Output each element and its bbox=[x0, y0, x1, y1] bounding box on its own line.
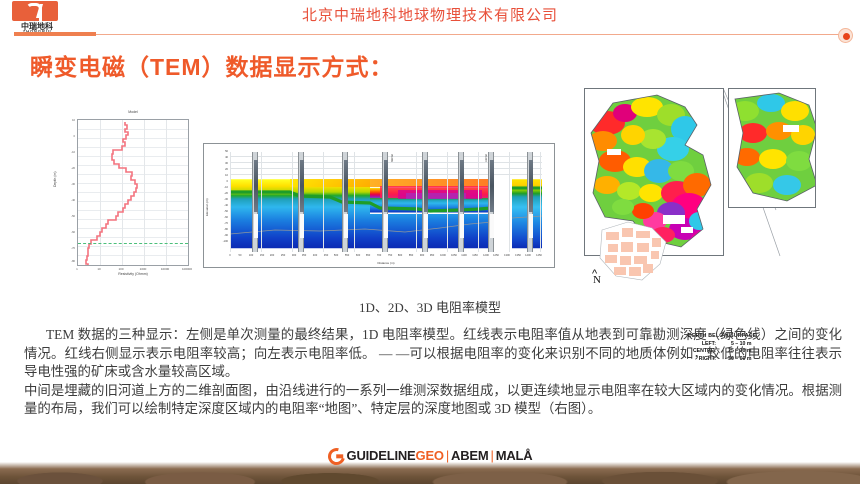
xtick: 1 bbox=[76, 267, 78, 271]
map-right-depth-slice bbox=[728, 88, 816, 208]
xtick: 100 bbox=[118, 267, 123, 271]
sounding-log bbox=[382, 152, 388, 252]
xtick: 750 bbox=[388, 254, 392, 257]
body-paragraph-1: TEM 数据的三种显示：左侧是单次测量的最终结果，1D 电阻率模型。红线表示电阻… bbox=[24, 326, 842, 382]
xtick: 650 bbox=[366, 254, 370, 257]
slide-header: 中瑞地科 ZHONGRUI 北京中瑞地科地球物理技术有限公司 bbox=[0, 0, 860, 30]
brand-guideline: GUIDELINE bbox=[347, 448, 416, 463]
xtick: 450 bbox=[324, 254, 328, 257]
xtick: 1350 bbox=[515, 254, 521, 257]
sounding-log bbox=[342, 152, 348, 252]
xtick: 10000 bbox=[161, 267, 169, 271]
resistivity-map-right bbox=[729, 89, 816, 208]
xtick: 500 bbox=[334, 254, 338, 257]
panel-1d-plot-area bbox=[77, 119, 189, 266]
xtick: 1000 bbox=[440, 254, 446, 257]
xtick: 1300 bbox=[504, 254, 510, 257]
xtick: 1150 bbox=[472, 254, 478, 257]
sounding-label: 05.089 bbox=[390, 154, 393, 162]
panel-1d-chart-title: Model bbox=[77, 110, 189, 114]
xtick: 600 bbox=[356, 254, 360, 257]
brand-geo: GEO bbox=[416, 448, 444, 463]
sounding-log bbox=[488, 152, 494, 252]
xtick: 900 bbox=[420, 254, 424, 257]
sounding-log bbox=[298, 152, 304, 252]
xtick: 1400 bbox=[525, 254, 531, 257]
site-index-map bbox=[594, 218, 684, 288]
sounding-log bbox=[422, 152, 428, 252]
panel-2d-xlabel: Distance (m) bbox=[230, 261, 542, 265]
xtick: 1050 bbox=[451, 254, 457, 257]
xtick: 10 bbox=[97, 267, 100, 271]
brand-separator: | bbox=[444, 448, 451, 463]
panel-2d-ylabel: Elevation (m) bbox=[205, 198, 209, 216]
brand-abem: ABEM bbox=[451, 448, 488, 463]
divider-accent-bar bbox=[14, 32, 96, 36]
xtick: 700 bbox=[377, 254, 381, 257]
header-divider bbox=[0, 31, 860, 39]
xtick: 400 bbox=[313, 254, 317, 257]
xtick: 1100 bbox=[461, 254, 467, 257]
panel-1d-ylabel: Depth (m) bbox=[53, 171, 57, 187]
panel-2d-plot-area: 05.087 05.089 bbox=[230, 152, 542, 252]
body-text: TEM 数据的三种显示：左侧是单次测量的最终结果，1D 电阻率模型。红线表示电阻… bbox=[24, 326, 842, 419]
sounding-log bbox=[458, 152, 464, 252]
xtick: 150 bbox=[260, 254, 264, 257]
xtick: 850 bbox=[409, 254, 413, 257]
xtick: 100000 bbox=[182, 267, 192, 271]
sounding-log bbox=[527, 152, 533, 252]
sounding-label: 05.087 bbox=[484, 154, 487, 162]
divider-line bbox=[60, 34, 840, 35]
xtick: 50 bbox=[239, 254, 242, 257]
brand-mala: MALÅ bbox=[496, 448, 533, 463]
xtick: 300 bbox=[292, 254, 296, 257]
xtick: 1450 bbox=[536, 254, 542, 257]
panel-1d-xlabel: Resistivity (Ohmm) bbox=[77, 272, 189, 276]
xtick: 550 bbox=[345, 254, 349, 257]
slide-canvas: 中瑞地科 ZHONGRUI 北京中瑞地科地球物理技术有限公司 瞬变电磁（TEM）… bbox=[0, 0, 860, 484]
footer-brand-logo: GUIDELINEGEO|ABEM|MALÅ bbox=[0, 447, 860, 465]
xtick: 1000 bbox=[140, 267, 147, 271]
brand-separator: | bbox=[489, 448, 496, 463]
body-paragraph-2: 中间是埋藏的旧河道上方的二维剖面图，由沿线进行的一系列一维测深数据组成，以更连续… bbox=[24, 382, 842, 419]
figure-caption: 1D、2D、3D 电阻率模型 bbox=[0, 297, 860, 316]
xtick: 250 bbox=[281, 254, 285, 257]
panel-1d-sounding: Model Depth (m) bbox=[55, 105, 200, 285]
xtick: 350 bbox=[302, 254, 306, 257]
reliable-depth-line bbox=[78, 243, 188, 244]
xtick: 1200 bbox=[483, 254, 489, 257]
xtick: 1250 bbox=[493, 254, 499, 257]
xtick: 100 bbox=[249, 254, 253, 257]
resistivity-curve bbox=[78, 120, 189, 266]
company-title: 北京中瑞地科地球物理技术有限公司 bbox=[0, 4, 860, 25]
guidelinegeo-g-icon bbox=[324, 444, 347, 467]
panel-3d-maps: ^ N DEPTH BELOW bbox=[580, 78, 818, 293]
xtick: 950 bbox=[430, 254, 434, 257]
divider-end-dot-icon bbox=[838, 28, 853, 43]
panel-2d-section: Elevation (m) bbox=[203, 143, 555, 268]
xtick: 0 bbox=[229, 254, 230, 257]
xtick: 200 bbox=[270, 254, 274, 257]
xtick: 800 bbox=[398, 254, 402, 257]
page-title: 瞬变电磁（TEM）数据显示方式： bbox=[30, 48, 394, 82]
sounding-log bbox=[252, 152, 258, 252]
